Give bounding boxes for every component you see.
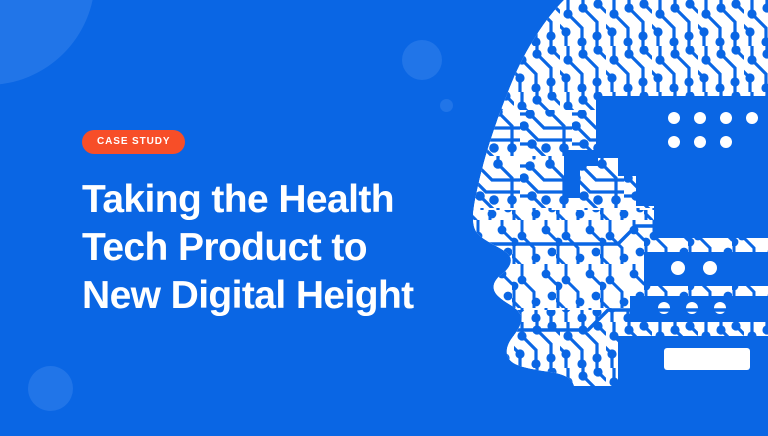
page-title: Taking the Health Tech Product to New Di…: [82, 176, 482, 320]
headline-line-3: New Digital Height: [82, 272, 482, 320]
decor-circle-middle: [402, 40, 442, 80]
banner-content: CASE STUDY Taking the Health Tech Produc…: [82, 130, 482, 320]
headline-line-2: Tech Product to: [82, 224, 482, 272]
decor-circle-top-left: [0, 0, 95, 85]
case-study-banner: CASE STUDY Taking the Health Tech Produc…: [0, 0, 768, 436]
decor-dot-small: [440, 99, 453, 112]
decor-circle-bottom-left: [28, 366, 73, 411]
headline-line-1: Taking the Health: [82, 176, 482, 224]
circuit-head-artwork: [468, 0, 768, 436]
case-study-badge: CASE STUDY: [82, 130, 185, 154]
